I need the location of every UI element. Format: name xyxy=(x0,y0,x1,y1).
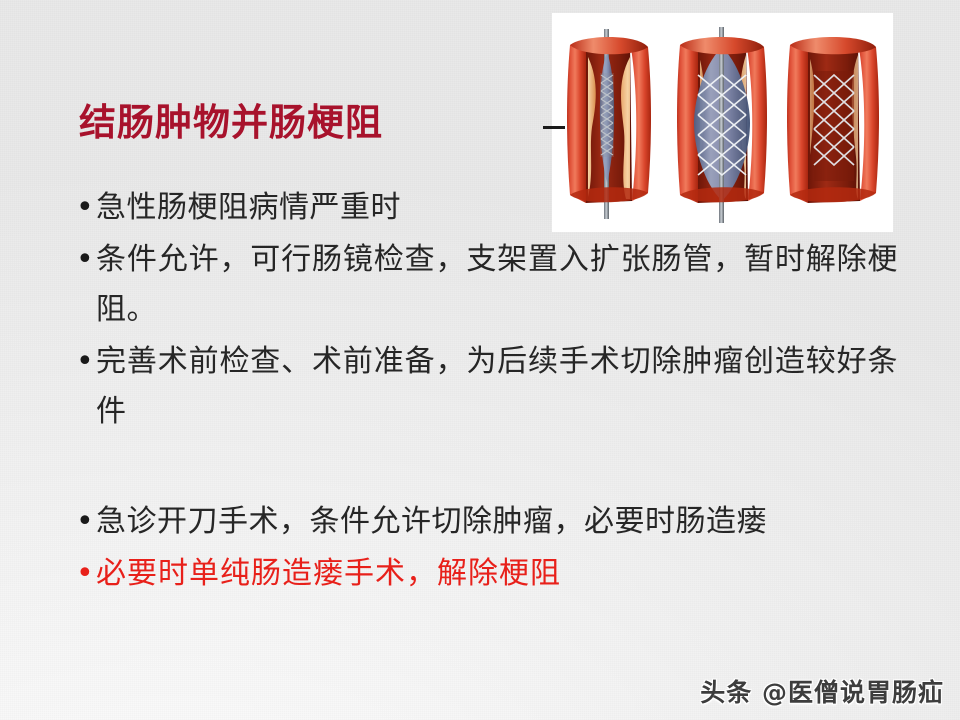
list-item: • 条件允许，可行肠镜检查，支架置入扩张肠管，暂时解除梗阻。 xyxy=(68,235,898,335)
list-item-text: 条件允许，可行肠镜检查，支架置入扩张肠管，暂时解除梗阻。 xyxy=(96,235,898,335)
list-item: • 急诊开刀手术，条件允许切除肿瘤，必要时肠造瘘 xyxy=(68,497,898,547)
list-item-text: 必要时单纯肠造瘘手术，解除梗阻 xyxy=(96,549,898,599)
list-item-text: 急性肠梗阻病情严重时 xyxy=(96,183,898,233)
bullet-list: • 急性肠梗阻病情严重时 • 条件允许，可行肠镜检查，支架置入扩张肠管，暂时解除… xyxy=(68,183,898,601)
list-item: • 急性肠梗阻病情严重时 xyxy=(68,183,898,233)
list-item: • 完善术前检查、术前准备，为后续手术切除肿瘤创造较好条件 xyxy=(68,337,898,437)
list-item-text: 完善术前检查、术前准备，为后续手术切除肿瘤创造较好条件 xyxy=(96,337,898,437)
list-item-text: 急诊开刀手术，条件允许切除肿瘤，必要时肠造瘘 xyxy=(96,497,898,547)
bullet-marker-icon: • xyxy=(68,235,96,285)
bullet-marker-icon: • xyxy=(68,337,96,387)
list-item-highlight: • 必要时单纯肠造瘘手术，解除梗阻 xyxy=(68,549,898,599)
bullet-marker-icon: • xyxy=(68,183,96,233)
watermark: 头条 @医僧说胃肠疝 xyxy=(700,678,944,708)
figure-leader-line xyxy=(543,126,565,129)
bullet-marker-icon: • xyxy=(68,549,96,599)
slide-canvas: 结肠肿物并肠梗阻 xyxy=(0,0,960,720)
bullet-marker-icon: • xyxy=(68,497,96,547)
page-title: 结肠肿物并肠梗阻 xyxy=(79,101,383,145)
